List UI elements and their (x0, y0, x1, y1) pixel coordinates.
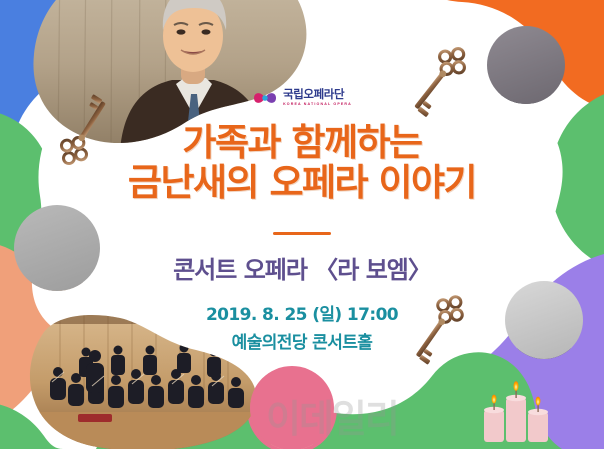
performer-photo-female-2 (250, 366, 334, 449)
concert-poster: 국립오페라단 KOREA NATIONAL OPERA 가족과 함께하는 금난새… (0, 0, 604, 449)
performer-photo-male-2 (505, 281, 583, 359)
performer-photo-male-1 (487, 26, 565, 104)
performer-photo-female-1 (14, 205, 100, 291)
